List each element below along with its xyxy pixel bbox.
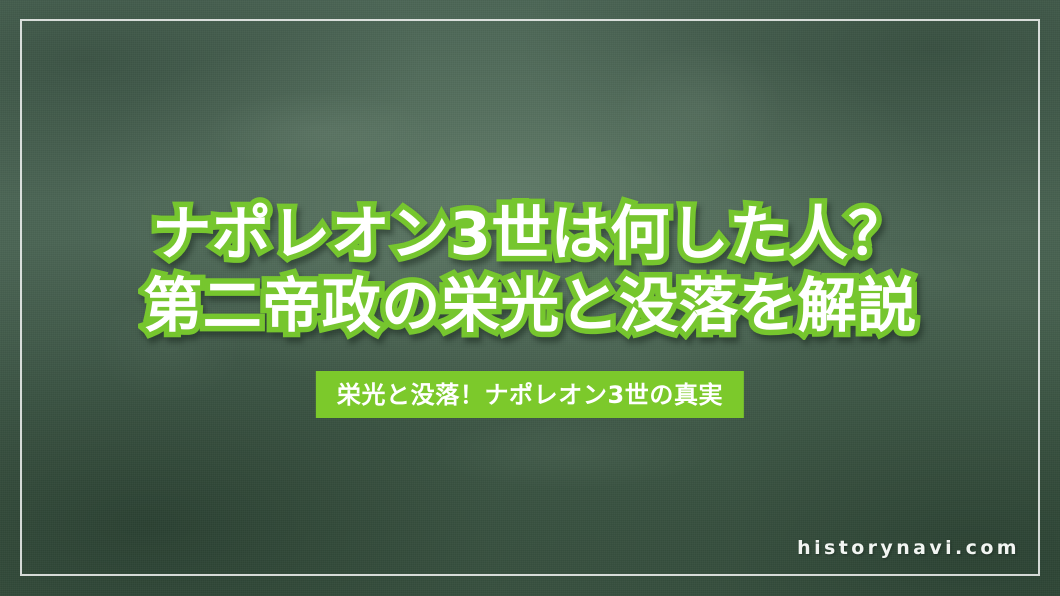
title-line-1: ナポレオン3世は何した人？ bbox=[0, 198, 1060, 270]
content-area: ナポレオン3世は何した人？ 第二帝政の栄光と没落を解説 栄光と没落！ナポレオン3… bbox=[0, 0, 1060, 596]
site-url-watermark: historynavi.com bbox=[797, 536, 1020, 560]
thumbnail-canvas: ナポレオン3世は何した人？ 第二帝政の栄光と没落を解説 栄光と没落！ナポレオン3… bbox=[0, 0, 1060, 596]
page-title: ナポレオン3世は何した人？ 第二帝政の栄光と没落を解説 bbox=[0, 198, 1060, 342]
subtitle-badge: 栄光と没落！ナポレオン3世の真実 bbox=[316, 371, 744, 418]
title-line-2: 第二帝政の栄光と没落を解説 bbox=[0, 270, 1060, 342]
subtitle-badge-label: 栄光と没落！ナポレオン3世の真実 bbox=[337, 382, 723, 408]
